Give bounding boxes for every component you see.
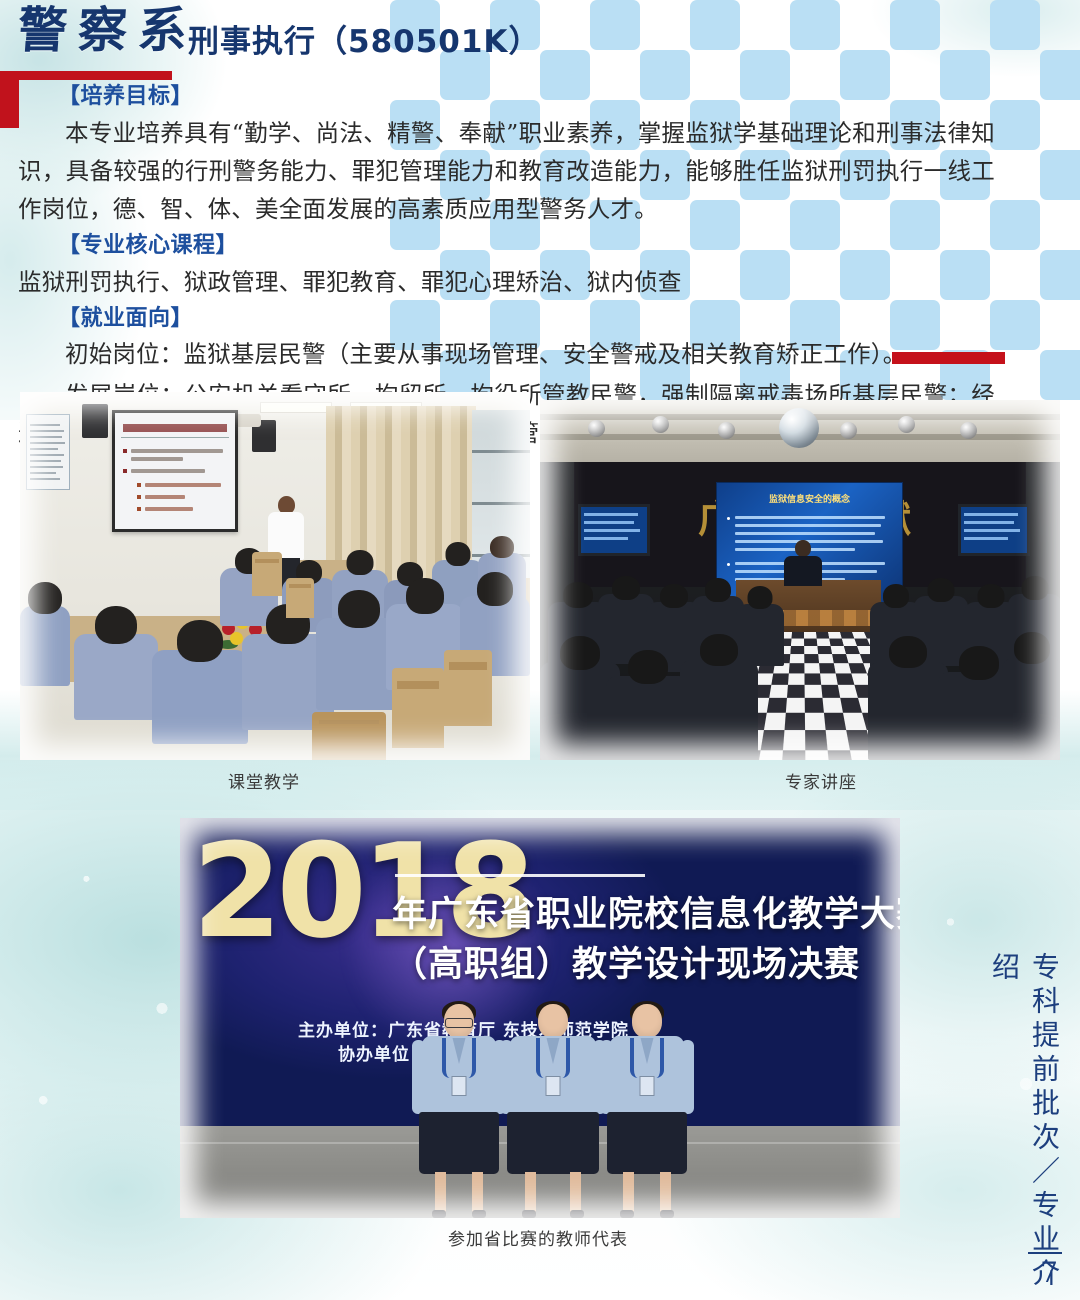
audience-figure	[868, 636, 948, 760]
photo-caption-classroom: 课堂教学	[228, 768, 300, 793]
speaker-box-icon	[82, 404, 108, 438]
banner-headline-line2: （高职组）教学设计现场决赛	[392, 936, 860, 987]
page-header: 警察系 刑事执行（580501K）	[0, 0, 1080, 78]
side-monitor	[958, 504, 1030, 556]
projector-icon	[235, 414, 261, 427]
photo-competition-teachers: 2018 年广东省职业院校信息化教学大赛 （高职组）教学设计现场决赛 主办单位：…	[180, 818, 900, 1218]
slide-title: 监狱信息安全的概念	[717, 492, 902, 505]
checker-square	[1040, 150, 1080, 200]
projection-screen	[112, 410, 238, 532]
page-root: 警察系 刑事执行（580501K） 【培养目标】 本专业培养具有“勤学、尚法、精…	[0, 0, 1080, 1300]
disco-ball-icon	[779, 408, 819, 448]
section-body-objectives: 本专业培养具有“勤学、尚法、精警、奉献”职业素养，掌握监狱学基础理论和刑事法律知…	[0, 114, 1035, 228]
section-body-core-courses: 监狱刑罚执行、狱政管理、罪犯教育、罪犯心理矫治、狱内侦查	[0, 263, 1035, 301]
major-title: 刑事执行（580501K）	[188, 27, 540, 58]
chair	[392, 668, 444, 748]
audience-figure	[680, 634, 758, 760]
banner-headline-line1: 年广东省职业院校信息化教学大赛	[392, 886, 900, 937]
chair	[312, 712, 386, 760]
red-accent-bar-lower	[892, 352, 1005, 364]
speaker-head	[795, 540, 811, 557]
chair	[286, 578, 314, 618]
glasses-icon	[445, 1018, 473, 1028]
teacher-figure-left	[422, 1004, 496, 1218]
photo-caption-banner: 参加省比赛的教师代表	[448, 1225, 628, 1250]
page-number-rule	[1028, 1252, 1062, 1254]
ceiling-light-icon	[260, 402, 332, 413]
cadet-figure	[20, 582, 70, 682]
checker-square	[1040, 250, 1080, 300]
cadet-figure	[74, 606, 158, 716]
department-name: 警察系	[16, 6, 199, 55]
audience-figure	[606, 650, 690, 760]
chair	[252, 552, 282, 596]
cadet-figure	[152, 620, 248, 740]
side-monitor	[578, 504, 650, 556]
running-head-vertical: 专科提前批次／专业介绍	[984, 952, 1064, 1300]
section-heading-objectives: 【培养目标】	[58, 82, 1035, 112]
audience-figure	[1002, 632, 1060, 760]
wall-poster	[26, 414, 70, 490]
teacher-figure-center	[510, 1004, 596, 1218]
photo-classroom-teaching	[20, 392, 530, 760]
page-number: 7	[1040, 1256, 1058, 1289]
banner-rule	[395, 874, 645, 877]
photo-caption-lecture: 专家讲座	[785, 768, 857, 793]
photo-expert-lecture: 广东 监狱 监狱信息安全的概念	[540, 400, 1060, 760]
section-body-employment-initial: 初始岗位：监狱基层民警（主要从事现场管理、安全警戒及相关教育矫正工作）。	[0, 335, 1035, 373]
teacher-figure-right	[610, 1004, 684, 1218]
chair	[444, 650, 492, 726]
section-heading-core-courses: 【专业核心课程】	[58, 231, 1035, 261]
checker-square	[1040, 350, 1080, 400]
red-accent-bar-horizontal	[0, 71, 172, 80]
speaker-body	[784, 556, 822, 586]
slide-title-bar	[123, 424, 227, 432]
section-heading-employment: 【就业面向】	[58, 304, 1035, 334]
